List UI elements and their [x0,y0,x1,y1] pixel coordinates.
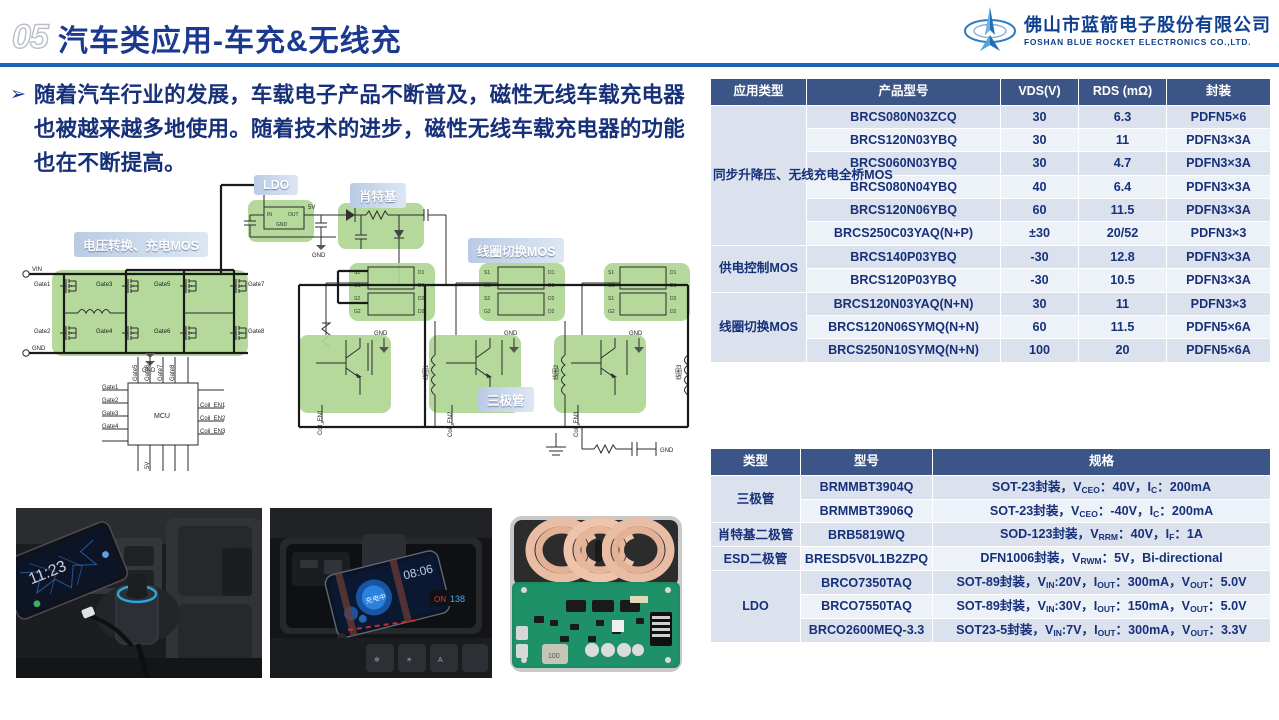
svg-text:A: A [438,657,443,664]
cell-model: BRCO7550TAQ [801,595,933,619]
photo-wireless-charger-pcb: 100 [500,508,696,678]
cell-package: PDFN3×3 [1167,222,1271,245]
cell-model: BRCS140P03YBQ [807,245,1001,268]
svg-text:Gate7: Gate7 [158,364,164,381]
svg-text:Gate5: Gate5 [133,364,139,381]
application-circuit-diagram: .w { stroke:#2b2b2b; stroke-width:1; fil… [16,175,696,495]
svg-text:Gate8: Gate8 [248,329,265,335]
svg-text:Gate4: Gate4 [96,329,113,335]
svg-text:MCU: MCU [154,413,170,420]
svg-text:S1: S1 [484,270,490,276]
cell-model: BRMMBT3904Q [801,475,933,499]
cell-package: PDFN5×6A [1167,315,1271,338]
coil-switch-block-label: 线圈切换MOS [468,238,564,263]
cell-vds: 60 [1001,199,1079,222]
cell-package: PDFN3×3A [1167,128,1271,151]
svg-text:S1: S1 [608,270,614,276]
product-photo-strip: 11:23 [16,508,696,678]
th-rds: RDS (mΩ) [1079,79,1167,106]
cell-model: BRCS120P03YBQ [807,269,1001,292]
svg-text:Gate5: Gate5 [154,282,171,288]
cell-rds: 11.5 [1079,315,1167,338]
svg-text:Gate6: Gate6 [145,364,151,381]
th-product-model: 产品型号 [807,79,1001,106]
table-header-row: 类型 型号 规格 [711,449,1271,476]
svg-text:S2: S2 [354,296,360,302]
discrete-table: 类型 型号 规格 三极管BRMMBT3904QSOT-23封装，VCEO：40V… [710,448,1271,643]
group-label: 肖特基二极管 [711,523,801,547]
svg-text:Gate3: Gate3 [96,282,113,288]
cell-spec: SOT-23封装，VCEO：40V，IC：200mA [933,475,1271,499]
cell-package: PDFN3×3A [1167,245,1271,268]
table-header-row: 应用类型 产品型号 VDS(V) RDS (mΩ) 封装 [711,79,1271,106]
company-logo: 佛山市蓝箭电子股份有限公司 FOSHAN BLUE ROCKET ELECTRO… [962,4,1271,54]
svg-text:Gate8: Gate8 [170,364,176,381]
cell-vds: ±30 [1001,222,1079,245]
cell-package: PDFN3×3A [1167,175,1271,198]
table-row: ESD二极管BRESD5V0L1B2ZPQDFN1006封装，VRWM：5V，B… [711,547,1271,571]
cell-vds: 40 [1001,175,1079,198]
cell-model: BRCO2600MEQ-3.3 [801,619,933,643]
cell-package: PDFN5×6A [1167,339,1271,362]
svg-text:D2: D2 [670,296,677,302]
th-spec: 规格 [933,449,1271,476]
photo-car-charger-phone: 11:23 [16,508,262,678]
table-row: 三极管BRMMBT3904QSOT-23封装，VCEO：40V，IC：200mA [711,475,1271,499]
th-type: 类型 [711,449,801,476]
svg-text:VIN: VIN [32,267,42,273]
cell-model: BRB5819WQ [801,523,933,547]
svg-text:D1: D1 [418,270,425,276]
cell-vds: 100 [1001,339,1079,362]
th-application-type: 应用类型 [711,79,807,106]
header-divider [0,63,1279,67]
cell-rds: 20 [1079,339,1167,362]
ldo-block-label: LDO [254,175,298,195]
cell-spec: SOT-89封装，VIN:20V，IOUT：300mA，VOUT：5.0V [933,571,1271,595]
blue-rocket-logo-icon [962,5,1018,53]
section-number: 05 [12,18,48,57]
group-label: 供电控制MOS [711,245,807,292]
svg-text:Gate3: Gate3 [102,411,119,417]
group-label: 同步升降压、无线充电全桥MOS [711,105,807,245]
cell-rds: 6.4 [1079,175,1167,198]
cell-package: PDFN3×3A [1167,152,1271,175]
cell-model: BRESD5V0L1B2ZPQ [801,547,933,571]
svg-text:D2: D2 [548,296,555,302]
cell-vds: 30 [1001,152,1079,175]
page-title: 汽车类应用-车充&无线充 [58,16,402,60]
svg-text:Coil_EN1: Coil_EN1 [200,403,226,409]
transistor-block-label: 三极管 [478,387,534,412]
cell-model: BRCO7350TAQ [801,571,933,595]
mosfet-table: 应用类型 产品型号 VDS(V) RDS (mΩ) 封装 同步升降压、无线充电全… [710,78,1271,363]
svg-text:Coil_EN2: Coil_EN2 [200,416,226,422]
cell-rds: 4.7 [1079,152,1167,175]
svg-text:OUT: OUT [288,212,299,218]
svg-text:Coil_EN3: Coil_EN3 [574,411,580,437]
svg-text:138: 138 [450,594,465,604]
svg-text:G2: G2 [484,309,491,315]
svg-text:Gate4: Gate4 [102,424,119,430]
group-label: LDO [711,571,801,643]
svg-text:IN: IN [267,212,272,218]
table-row: LDOBRCO7350TAQSOT-89封装，VIN:20V，IOUT：300m… [711,571,1271,595]
svg-text:Coil_EN1: Coil_EN1 [318,409,324,435]
svg-text:GND: GND [32,346,46,352]
table-row: 肖特基二极管BRB5819WQSOD-123封装，VRRM：40V，IF：1A [711,523,1271,547]
svg-text:GND: GND [374,331,388,337]
cell-vds: 60 [1001,315,1079,338]
cell-vds: 30 [1001,292,1079,315]
table-row: 线圈切换MOS BRCS120N03YAQ(N+N) 30 11 PDFN3×3 [711,292,1271,315]
logo-company-cn: 佛山市蓝箭电子股份有限公司 [1024,11,1271,37]
svg-text:G2: G2 [354,309,361,315]
cell-model: BRCS120N03YAQ(N+N) [807,292,1001,315]
svg-text:S1: S1 [608,296,614,302]
svg-text:线圈3: 线圈3 [675,364,683,380]
svg-text:❄: ❄ [374,656,380,664]
th-vds: VDS(V) [1001,79,1079,106]
svg-text:D2: D2 [418,309,425,315]
svg-text:GND: GND [312,253,326,259]
cell-rds: 12.8 [1079,245,1167,268]
svg-text:D2: D2 [548,309,555,315]
cell-model: BRCS250N10SYMQ(N+N) [807,339,1001,362]
bullet-arrow-icon: ➢ [10,78,26,180]
svg-text:Coil_EN2: Coil_EN2 [448,411,454,437]
svg-text:100: 100 [548,653,560,660]
cell-model: BRCS250C03YAQ(N+P) [807,222,1001,245]
svg-text:5V: 5V [145,462,151,469]
svg-text:ON: ON [434,595,446,604]
cell-rds: 11 [1079,292,1167,315]
svg-text:GND: GND [276,222,288,228]
svg-text:S2: S2 [484,296,490,302]
svg-text:D1: D1 [548,270,555,276]
svg-text:5V: 5V [308,205,315,211]
table-row: 同步升降压、无线充电全桥MOS BRCS080N03ZCQ 30 6.3 PDF… [711,105,1271,128]
svg-text:☀: ☀ [406,656,412,664]
photo-wireless-charging-console: 充电中 08:06 ON 138 [270,508,492,678]
svg-text:D2: D2 [670,309,677,315]
svg-text:Gate6: Gate6 [154,329,171,335]
svg-text:Gate1: Gate1 [34,282,51,288]
cell-vds: 30 [1001,105,1079,128]
circuit-svg: .w { stroke:#2b2b2b; stroke-width:1; fil… [16,175,696,495]
group-label: ESD二极管 [711,547,801,571]
cell-spec: SOT-23封装，VCEO：-40V，IC：200mA [933,499,1271,523]
cell-vds: -30 [1001,245,1079,268]
svg-text:Gate2: Gate2 [102,398,119,404]
cell-package: PDFN3×3 [1167,292,1271,315]
cell-rds: 6.3 [1079,105,1167,128]
cell-spec: SOD-123封装，VRRM：40V，IF：1A [933,523,1271,547]
intro-bullet-text: 随着汽车行业的发展，车载电子产品不断普及，磁性无线车载充电器也被越来越多地使用。… [34,78,690,180]
cell-model: BRMMBT3906Q [801,499,933,523]
cell-rds: 20/52 [1079,222,1167,245]
cell-rds: 11.5 [1079,199,1167,222]
svg-text:D2: D2 [418,296,425,302]
group-label: 线圈切换MOS [711,292,807,362]
cell-rds: 10.5 [1079,269,1167,292]
cell-model: BRCS120N06YBQ [807,199,1001,222]
svg-text:D1: D1 [670,270,677,276]
cell-package: PDFN3×3A [1167,199,1271,222]
svg-text:GND: GND [629,331,643,337]
svg-text:Coil_EN3: Coil_EN3 [200,429,226,435]
cell-model: BRCS080N03ZCQ [807,105,1001,128]
th-package: 封装 [1167,79,1271,106]
svg-text:GND: GND [660,448,674,454]
schottky-block-label: 肖特基 [350,183,406,208]
voltage-convert-block-label: 电压转换、充电MOS [74,232,208,257]
svg-text:Gate2: Gate2 [34,329,51,335]
logo-company-en: FOSHAN BLUE ROCKET ELECTRONICS CO.,LTD. [1024,37,1271,47]
cell-spec: DFN1006封装，VRWM：5V，Bi-directional [933,547,1271,571]
cell-model: BRCS120N06SYMQ(N+N) [807,315,1001,338]
slide-header: 05 汽车类应用-车充&无线充 佛山市蓝箭电子股份有限公司 FOSHAN BLU… [0,0,1279,66]
cell-model: BRCS120N03YBQ [807,128,1001,151]
svg-text:线圈2: 线圈2 [552,364,560,380]
cell-rds: 11 [1079,128,1167,151]
cell-spec: SOT-89封装，VIN:30V，IOUT：150mA，VOUT：5.0V [933,595,1271,619]
group-label: 三极管 [711,475,801,523]
intro-bullet: ➢ 随着汽车行业的发展，车载电子产品不断普及，磁性无线车载充电器也被越来越多地使… [10,78,690,180]
table-row: 供电控制MOS BRCS140P03YBQ -30 12.8 PDFN3×3A [711,245,1271,268]
th-model: 型号 [801,449,933,476]
svg-text:Gate7: Gate7 [248,282,265,288]
cell-vds: 30 [1001,128,1079,151]
cell-vds: -30 [1001,269,1079,292]
svg-text:Gate1: Gate1 [102,385,119,391]
cell-package: PDFN5×6 [1167,105,1271,128]
svg-text:GND: GND [504,331,518,337]
slide-root: 05 汽车类应用-车充&无线充 佛山市蓝箭电子股份有限公司 FOSHAN BLU… [0,0,1279,720]
svg-text:G2: G2 [608,309,615,315]
cell-package: PDFN3×3A [1167,269,1271,292]
cell-spec: SOT23-5封装，VIN:7V，IOUT：300mA，VOUT：3.3V [933,619,1271,643]
